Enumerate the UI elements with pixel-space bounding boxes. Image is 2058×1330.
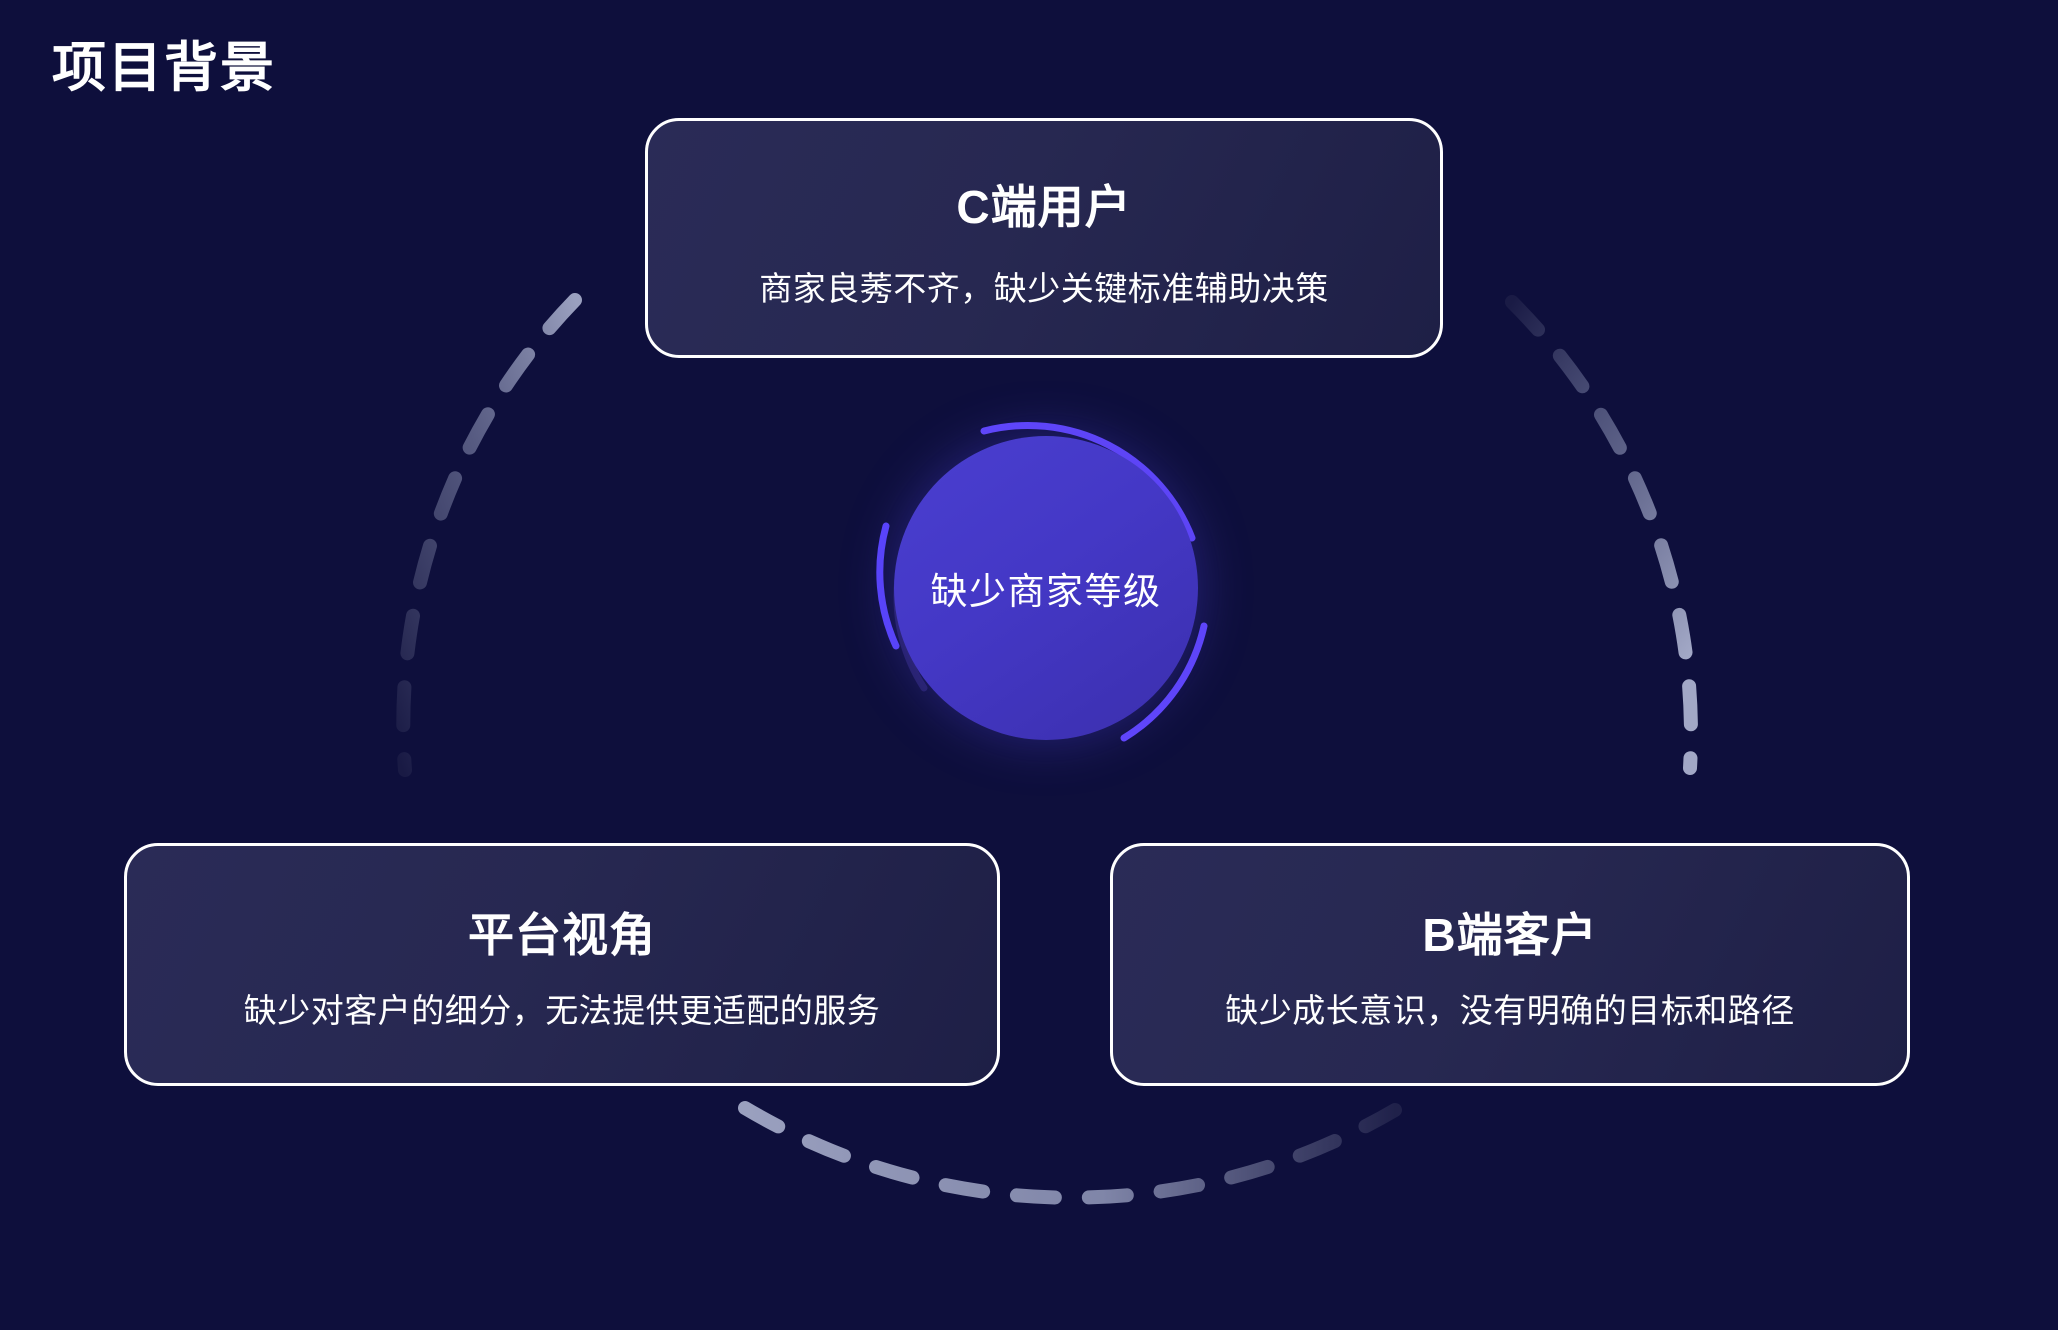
hub-circle: 缺少商家等级 (894, 436, 1198, 740)
card-c-end-user[interactable]: C端用户 商家良莠不齐，缺少关键标准辅助决策 (645, 118, 1443, 358)
card-title: B端客户 (1422, 909, 1597, 962)
card-description: 商家良莠不齐，缺少关键标准辅助决策 (759, 268, 1329, 311)
card-title: C端用户 (956, 181, 1131, 234)
card-b-end-client[interactable]: B端客户 缺少成长意识，没有明确的目标和路径 (1110, 843, 1910, 1086)
card-description: 缺少对客户的细分，无法提供更适配的服务 (244, 990, 881, 1033)
card-title: 平台视角 (468, 909, 656, 962)
connector-arc-bottom (745, 1108, 1395, 1198)
slide-canvas: 项目背景 (0, 0, 2058, 1330)
card-description: 缺少成长意识，没有明确的目标和路径 (1225, 990, 1795, 1033)
center-hub: 缺少商家等级 (856, 398, 1236, 778)
connector-arc-right (1512, 302, 1691, 768)
page-title: 项目背景 (52, 36, 276, 101)
card-platform-view[interactable]: 平台视角 缺少对客户的细分，无法提供更适配的服务 (124, 843, 1000, 1086)
hub-label: 缺少商家等级 (931, 561, 1162, 615)
connector-arc-left (403, 300, 575, 770)
